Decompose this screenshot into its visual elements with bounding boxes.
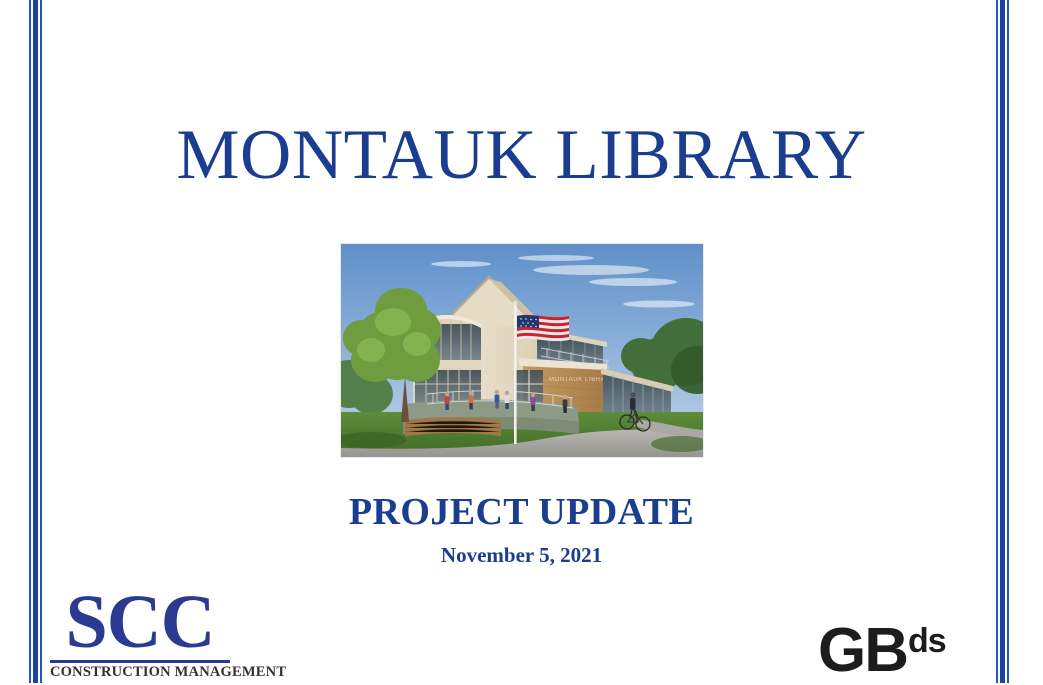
right-border-decoration [996,0,1010,683]
left-border-decoration [29,0,43,683]
border-bar-thick [1000,0,1005,683]
scc-logo-mark: SCC [50,588,230,658]
page-title: MONTAUK LIBRARY [60,120,983,191]
scc-logo: SCC CONSTRUCTION MANAGEMENT [50,588,230,681]
american-flag [517,315,569,341]
presentation-slide: MONTAUK LIBRARY [0,0,1043,683]
presentation-date: November 5, 2021 [60,543,983,568]
subtitle: PROJECT UPDATE [60,490,983,534]
border-bar-thin-left [29,0,31,683]
border-bar-thick-left [33,0,38,683]
gbds-logo-superscript: ds [908,624,946,658]
border-bar-thin-right [1007,0,1009,683]
gbds-logo: GB ds [818,624,946,679]
border-bar-thin-left [996,0,998,683]
scc-logo-tagline: CONSTRUCTION MANAGEMENT [50,664,230,681]
border-bar-thin-right [40,0,42,683]
building-rendering-image: MONTAUK LIBRARY [341,244,703,457]
rendering-illustration: MONTAUK LIBRARY [341,244,703,457]
gbds-logo-main: GB [818,624,907,679]
